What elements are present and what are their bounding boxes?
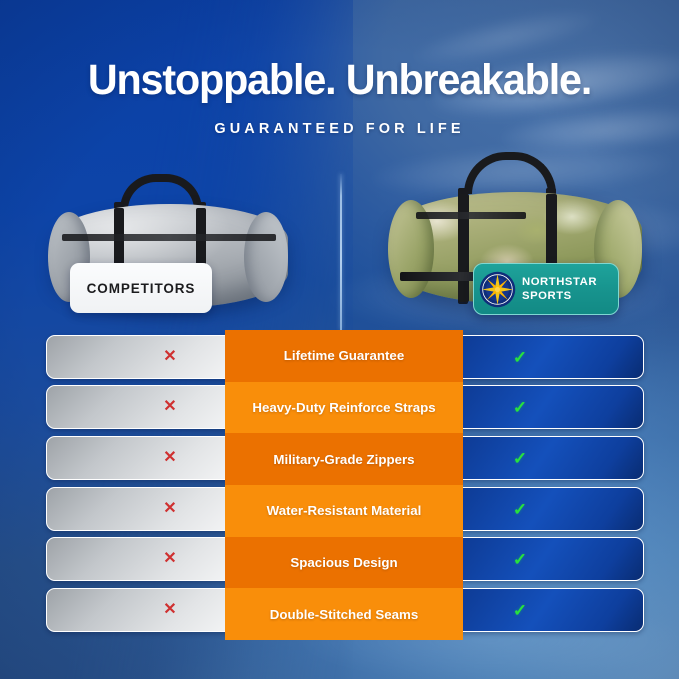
cross-icon: ✕ bbox=[163, 399, 176, 415]
feature-label: Military-Grade Zippers bbox=[225, 433, 463, 485]
header: Unstoppable. Unbreakable. GUARANTEED FOR… bbox=[0, 0, 679, 137]
cross-icon: ✕ bbox=[163, 349, 176, 365]
compass-star-icon bbox=[479, 271, 516, 308]
competitors-label-badge: COMPETITORS bbox=[70, 263, 212, 313]
feature-label: Heavy-Duty Reinforce Straps bbox=[225, 382, 463, 434]
check-icon: ✓ bbox=[513, 349, 527, 366]
cross-icon: ✕ bbox=[163, 551, 176, 567]
feature-label: Spacious Design bbox=[225, 537, 463, 589]
bag-end-cap bbox=[244, 212, 288, 302]
feature-label: Lifetime Guarantee bbox=[225, 330, 463, 382]
northstar-brand-badge: NORTHSTAR SPORTS bbox=[473, 263, 619, 315]
comparison-table: ✕ ✓ ✕ ✓ ✕ ✓ ✕ ✓ ✕ ✓ ✕ ✓ Lifetime Guarant… bbox=[0, 330, 679, 642]
check-icon: ✓ bbox=[513, 551, 527, 568]
cross-icon: ✕ bbox=[163, 602, 176, 618]
bag-zipper bbox=[416, 212, 526, 219]
cross-icon: ✕ bbox=[163, 501, 176, 517]
vertical-divider bbox=[340, 174, 342, 330]
feature-label: Double-Stitched Seams bbox=[225, 588, 463, 640]
check-icon: ✓ bbox=[513, 501, 527, 518]
feature-label: Water-Resistant Material bbox=[225, 485, 463, 537]
feature-column: Lifetime Guarantee Heavy-Duty Reinforce … bbox=[225, 330, 463, 640]
bag-handle bbox=[464, 152, 556, 194]
brand-line-2: SPORTS bbox=[522, 289, 597, 303]
bag-zipper bbox=[62, 234, 276, 241]
check-icon: ✓ bbox=[513, 450, 527, 467]
page-subtitle: GUARANTEED FOR LIFE bbox=[0, 121, 679, 137]
northstar-brand-text: NORTHSTAR SPORTS bbox=[522, 275, 597, 304]
bag-strap bbox=[458, 194, 469, 302]
brand-line-1: NORTHSTAR bbox=[522, 275, 597, 289]
check-icon: ✓ bbox=[513, 399, 527, 416]
competitors-label: COMPETITORS bbox=[87, 281, 196, 296]
cross-icon: ✕ bbox=[163, 450, 176, 466]
check-icon: ✓ bbox=[513, 602, 527, 619]
page-title: Unstoppable. Unbreakable. bbox=[14, 58, 666, 104]
